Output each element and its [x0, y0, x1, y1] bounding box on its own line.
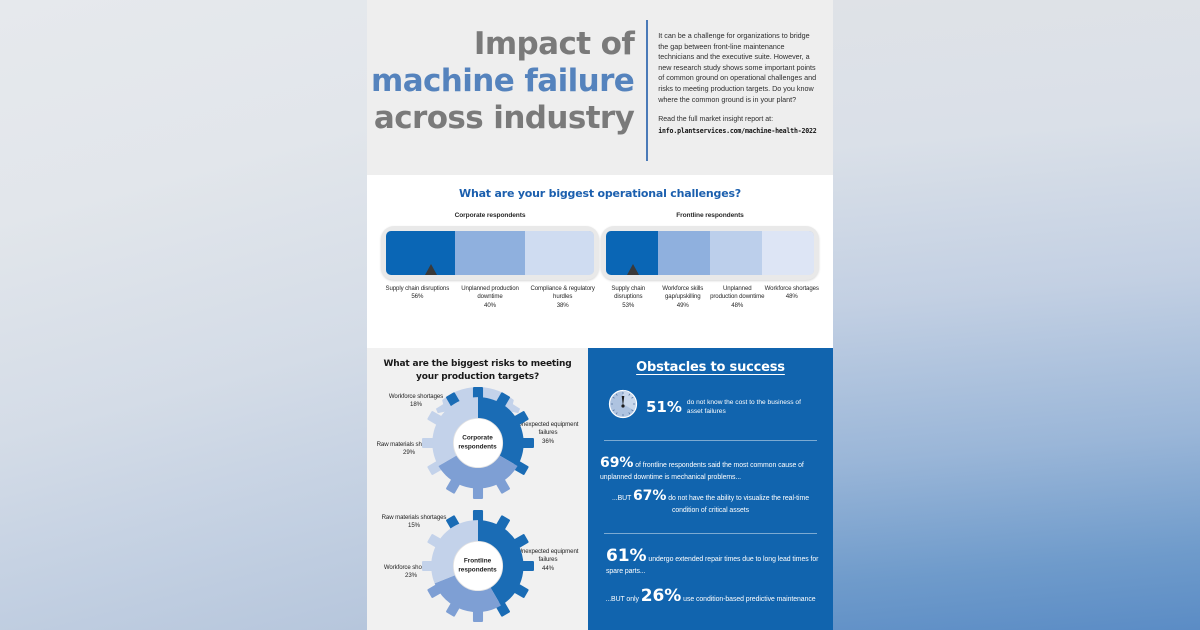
gear-frontline: Frontline respondents	[422, 510, 534, 622]
frontline-label-1: Supply chain disruptions 53%	[601, 285, 656, 310]
obstacle-stat-2-number: 69%	[600, 455, 633, 471]
gear2-label-1-value: 44%	[542, 565, 554, 572]
frontline-label-2: Workforce skills gap/upskilling 49%	[656, 285, 711, 310]
frontline-label-2-value: 49%	[656, 302, 711, 310]
report-url[interactable]: info.plantservices.com/machine-health-20…	[658, 126, 817, 136]
gear2-center-label: Frontline respondents	[448, 557, 508, 574]
background-left-gradient	[0, 0, 367, 630]
read-report-line: Read the full market insight report at: …	[658, 115, 817, 136]
corporate-label-1-text: Supply chain disruptions	[386, 285, 450, 292]
obstacle-stat-3: 61% undergo extended repair times due to…	[600, 550, 821, 606]
obstacle-stat-2: 69% of frontline respondents said the mo…	[600, 457, 821, 517]
corporate-bar-frame	[381, 226, 599, 280]
corporate-label-2-value: 40%	[454, 302, 527, 310]
challenges-bars-row: Corporate respondents Supply chain disru…	[377, 212, 823, 310]
background-right-gradient	[833, 0, 1200, 630]
frontline-label-1-text: Supply chain disruptions	[611, 285, 645, 300]
read-report-label: Read the full market insight report at:	[658, 116, 773, 123]
frontline-segment-4	[762, 231, 814, 275]
gear1-label-3-value: 18%	[410, 401, 422, 408]
corporate-label-1-value: 56%	[381, 293, 454, 301]
obstacles-title: Obstacles to success	[600, 360, 821, 375]
frontline-label-1-value: 53%	[601, 302, 656, 310]
frontline-label-4-text: Workforce shortages	[765, 285, 819, 292]
risks-question: What are the biggest risks to meeting yo…	[373, 358, 582, 383]
corporate-segment-1	[386, 231, 455, 275]
poster-header: Impact of machine failure across industr…	[367, 0, 833, 175]
gear1-label-1-value: 36%	[542, 438, 554, 445]
obstacle-stat-3-line1: 61% undergo extended repair times due to…	[600, 550, 821, 578]
frontline-label-3-value: 48%	[710, 302, 765, 310]
frontline-label-4: Workforce shortages 48%	[765, 285, 820, 310]
infographic-poster: Impact of machine failure across industr…	[367, 0, 833, 630]
gauge-icon-wrap	[608, 389, 638, 424]
obstacle-stat-2-line2: ...BUT 67% do not have the ability to vi…	[600, 490, 821, 517]
obstacle-stat-1-number: 51%	[646, 398, 682, 416]
gear-block-frontline: Raw materials shortages 15% Workforce sh…	[373, 510, 582, 625]
obstacle-stat-2-line1: 69% of frontline respondents said the mo…	[600, 457, 821, 484]
challenges-question: What are your biggest operational challe…	[377, 187, 823, 200]
obstacle-stat-3-number: 61%	[606, 546, 647, 566]
section-operational-challenges: What are your biggest operational challe…	[367, 175, 833, 348]
title-line-3: across industry	[371, 100, 634, 137]
obstacle-stat-2-but-prefix: ...BUT	[612, 495, 631, 502]
corporate-label-3-value: 38%	[526, 302, 599, 310]
frontline-bar-group: Frontline respondents Supply chain disru…	[601, 212, 819, 310]
gear1-label-2-value: 29%	[403, 449, 415, 456]
page-title: Impact of machine failure across industr…	[371, 14, 646, 175]
frontline-label-3-text: Unplanned production downtime	[710, 285, 764, 300]
obstacle-stat-3-but-prefix: ...BUT only	[605, 596, 638, 603]
corporate-label-2-text: Unplanned production downtime	[461, 285, 519, 300]
section-production-risks: What are the biggest risks to meeting yo…	[367, 348, 588, 630]
title-line-2: machine failure	[371, 63, 634, 100]
obstacle-stat-1-text: do not know the cost to the business of …	[687, 398, 817, 416]
corporate-label-1: Supply chain disruptions 56%	[381, 285, 454, 310]
title-line-1: Impact of	[371, 26, 634, 63]
frontline-label-4-value: 48%	[765, 293, 820, 301]
frontline-bar-pointer-icon	[627, 264, 639, 275]
obstacle-stat-3-but-text: use condition-based predictive maintenan…	[683, 596, 815, 603]
obstacle-stat-3-line2: ...BUT only 26% use condition-based pred…	[600, 590, 821, 606]
section-obstacles: Obstacles to success	[588, 348, 833, 630]
frontline-segment-3	[710, 231, 762, 275]
obstacle-stat-2-but-text: do not have the ability to visualize the…	[668, 495, 809, 514]
corporate-caption: Corporate respondents	[381, 212, 599, 219]
frontline-bar-labels: Supply chain disruptions 53% Workforce s…	[601, 285, 819, 310]
obstacle-stat-2-but-number: 67%	[633, 488, 666, 504]
obstacle-stat-1-content: 51% do not know the cost to the business…	[646, 398, 817, 416]
corporate-segment-2	[455, 231, 524, 275]
section-bottom: What are the biggest risks to meeting yo…	[367, 348, 833, 630]
frontline-caption: Frontline respondents	[601, 212, 819, 219]
gear1-center-label: Corporate respondents	[448, 434, 508, 451]
corporate-label-3-text: Compliance & regulatory hurdles	[530, 285, 594, 300]
frontline-segment-2	[658, 231, 710, 275]
gear2-label-3-value: 15%	[408, 522, 420, 529]
frontline-bar-frame	[601, 226, 819, 280]
frontline-bar-track	[606, 231, 814, 275]
corporate-label-2: Unplanned production downtime 40%	[454, 285, 527, 310]
obstacle-stat-3-but-number: 26%	[641, 586, 682, 606]
gear-block-corporate: Workforce shortages 18% Raw materials sh…	[373, 387, 582, 502]
corporate-bar-pointer-icon	[425, 264, 437, 275]
corporate-label-3: Compliance & regulatory hurdles 38%	[526, 285, 599, 310]
gear2-label-2-value: 23%	[405, 572, 417, 579]
header-intro-block: It can be a challenge for organizations …	[648, 14, 823, 175]
corporate-bar-track	[386, 231, 594, 275]
gauge-clock-icon	[608, 389, 638, 419]
corporate-bar-labels: Supply chain disruptions 56% Unplanned p…	[381, 285, 599, 310]
corporate-bar-group: Corporate respondents Supply chain disru…	[381, 212, 599, 310]
obstacles-divider-1	[604, 440, 817, 441]
frontline-label-2-text: Workforce skills gap/upskilling	[662, 285, 703, 300]
frontline-label-3: Unplanned production downtime 48%	[710, 285, 765, 310]
obstacle-stat-1: 51% do not know the cost to the business…	[600, 389, 821, 424]
gear-corporate: Corporate respondents	[422, 387, 534, 499]
obstacles-divider-2	[604, 533, 817, 534]
corporate-segment-3	[525, 231, 594, 275]
intro-paragraph: It can be a challenge for organizations …	[658, 31, 817, 105]
